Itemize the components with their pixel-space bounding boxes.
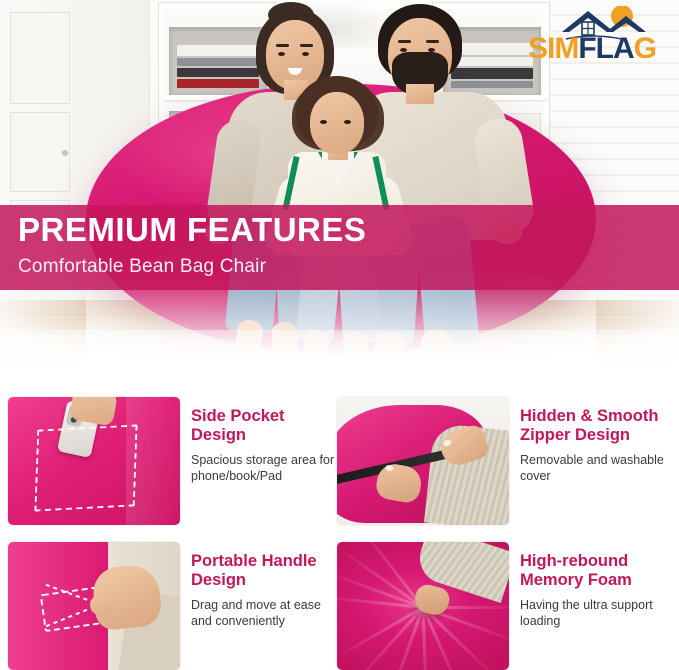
logo-text-part3: G bbox=[634, 32, 656, 65]
thumb-finger bbox=[90, 594, 114, 616]
feature-card-memory-foam: High-rebound Memory Foam Having the ultr… bbox=[337, 542, 671, 670]
shelf-upper-left bbox=[169, 27, 267, 95]
feature-heading-line2: Design bbox=[191, 571, 246, 589]
cabinet-panel bbox=[10, 112, 70, 192]
book bbox=[177, 79, 259, 88]
feature-card-portable-handle: Portable Handle Design Drag and move at … bbox=[8, 542, 335, 670]
feature-body: Removable and washable cover bbox=[520, 452, 671, 485]
child-face bbox=[310, 92, 364, 154]
pocket-outline bbox=[34, 424, 137, 511]
feature-heading-line2: Memory Foam bbox=[520, 571, 632, 589]
feature-heading: High-rebound Memory Foam bbox=[520, 552, 671, 591]
hero-section: PREMIUM FEATURES Comfortable Bean Bag Ch… bbox=[0, 0, 679, 390]
hero-bottom-fade bbox=[0, 330, 679, 390]
banner-subtitle: Comfortable Bean Bag Chair bbox=[18, 256, 266, 278]
feature-heading: Side Pocket Design bbox=[191, 407, 335, 446]
book bbox=[451, 81, 533, 88]
cabinet-panel bbox=[10, 12, 70, 104]
feature-image-memory-foam bbox=[337, 542, 509, 670]
book bbox=[451, 68, 533, 79]
book bbox=[177, 58, 259, 66]
cabinet-knob bbox=[62, 150, 68, 156]
feature-heading-line1: High-rebound bbox=[520, 552, 628, 570]
logo-wordmark: SIMFLAG bbox=[510, 34, 674, 64]
man-neck bbox=[406, 84, 434, 104]
feature-heading-line2: Zipper Design bbox=[520, 426, 630, 444]
logo-text-part1: SIM bbox=[528, 32, 578, 65]
feature-card-hidden-zipper: Hidden & Smooth Zipper Design Removable … bbox=[337, 397, 671, 532]
feature-image-hidden-zipper bbox=[337, 397, 509, 525]
feature-image-side-pocket bbox=[8, 397, 180, 525]
logo-text-part2: FLA bbox=[578, 32, 633, 65]
book bbox=[177, 45, 259, 56]
brand-logo: SIMFLAG bbox=[510, 6, 674, 68]
book bbox=[177, 68, 259, 77]
feature-body: Spacious storage area for phone/book/Pad bbox=[191, 452, 335, 485]
feature-grid: Side Pocket Design Spacious storage area… bbox=[0, 392, 679, 670]
feature-body: Drag and move at ease and conveniently bbox=[191, 597, 335, 630]
feature-heading-line1: Portable Handle bbox=[191, 552, 317, 570]
feature-heading-line2: Design bbox=[191, 426, 246, 444]
banner-title: PREMIUM FEATURES bbox=[18, 213, 366, 246]
feature-heading: Hidden & Smooth Zipper Design bbox=[520, 407, 671, 446]
feature-card-side-pocket: Side Pocket Design Spacious storage area… bbox=[8, 397, 335, 532]
feature-heading-line1: Side Pocket bbox=[191, 407, 285, 425]
feature-heading-line1: Hidden & Smooth bbox=[520, 407, 658, 425]
feature-image-portable-handle bbox=[8, 542, 180, 670]
feature-heading: Portable Handle Design bbox=[191, 552, 335, 591]
feature-body: Having the ultra support loading bbox=[520, 597, 671, 630]
